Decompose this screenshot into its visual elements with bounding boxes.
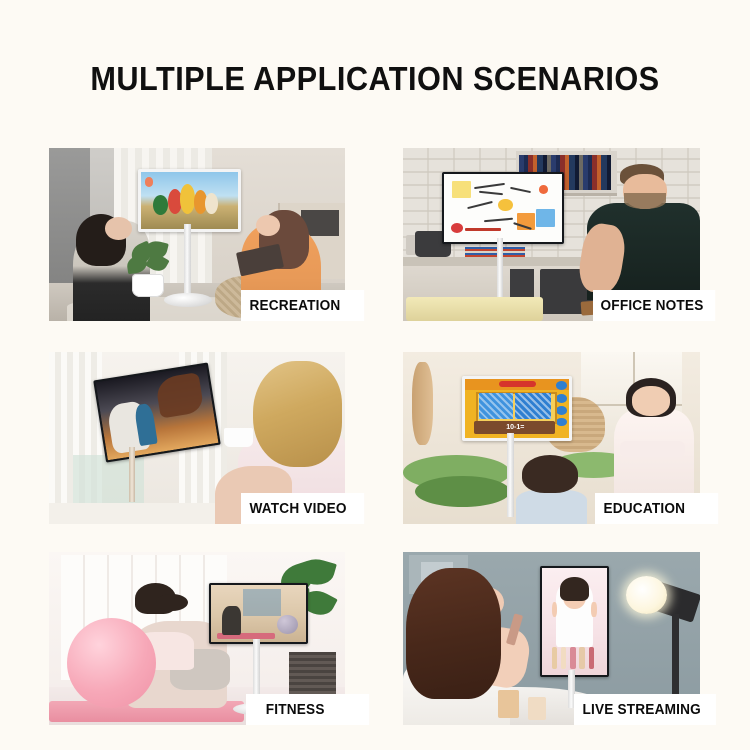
cosmetic-bottle-1 <box>498 690 519 718</box>
screen-host-hair <box>560 577 589 601</box>
screen-product-1 <box>552 647 557 668</box>
game-answer-button-9[interactable] <box>556 394 567 403</box>
scenario-label-text: OFFICE NOTES <box>601 298 704 314</box>
stand-monitor-screen: 10-1= <box>462 376 572 440</box>
scenario-label-office-notes: OFFICE NOTES <box>593 290 715 321</box>
person-right-face <box>256 215 280 236</box>
screen-product-2 <box>561 647 566 668</box>
book-stack <box>465 247 524 257</box>
scenario-label-recreation: RECREATION <box>241 290 364 321</box>
scenario-label-watch-video: WATCH VIDEO <box>241 493 364 524</box>
coffee-cup <box>224 428 254 447</box>
scenario-card-watch-video[interactable]: WATCH VIDEO <box>49 352 345 524</box>
monitor-stand-pole <box>507 433 514 517</box>
teacher-face <box>632 386 671 415</box>
scenario-label-fitness: FITNESS <box>246 694 369 725</box>
scenario-card-office-notes[interactable]: OFFICE NOTES <box>403 148 700 321</box>
screen-window <box>243 589 281 616</box>
bed <box>49 503 233 524</box>
screen-product-3 <box>570 647 575 668</box>
game-title-banner <box>499 381 536 387</box>
scenario-card-fitness[interactable]: FITNESS <box>49 552 345 725</box>
game-answer-button-8[interactable] <box>556 406 567 415</box>
cosmetic-bottle-2 <box>528 697 546 719</box>
person-ponytail <box>156 594 189 611</box>
screen-product-5 <box>589 647 594 668</box>
monitor-stand-pole <box>184 224 192 298</box>
stand-monitor-screen <box>442 172 565 243</box>
scenario-label-text: RECREATION <box>249 298 340 314</box>
game-answer-button-6[interactable] <box>556 418 567 427</box>
scenario-grid: RECREATION <box>0 0 750 750</box>
stand-monitor-screen <box>138 169 242 232</box>
papers-foreground <box>406 297 543 321</box>
scenario-card-education[interactable]: 10-1= EDUCATION <box>403 352 700 524</box>
person-hair <box>406 568 501 699</box>
game-grid-right <box>515 393 550 419</box>
scenario-label-text: WATCH VIDEO <box>249 501 346 517</box>
monitor-stand-pole <box>129 447 135 502</box>
exercise-ball <box>67 618 156 708</box>
plant-pot <box>289 652 336 697</box>
wood-divider <box>412 362 433 445</box>
game-grid-left <box>479 393 513 419</box>
green-cushion-2 <box>415 476 510 507</box>
person-left-face <box>105 217 132 239</box>
child-body <box>516 490 587 524</box>
stand-monitor-screen <box>209 583 308 644</box>
scenario-label-education: EDUCATION <box>595 493 718 524</box>
plant-pot <box>132 274 165 296</box>
game-equation-text: 10-1= <box>497 424 534 432</box>
screen-content-math-game: 10-1= <box>465 379 569 437</box>
child-hair <box>522 455 578 493</box>
person-hair <box>253 361 342 468</box>
scenario-label-text: EDUCATION <box>603 501 685 517</box>
screen-product-4 <box>579 647 584 668</box>
scenario-label-text: FITNESS <box>266 702 325 718</box>
screen-host-hand-right <box>591 602 596 617</box>
scenario-label-text: LIVE STREAMING <box>582 702 700 718</box>
stand-monitor-screen-portrait <box>540 566 609 677</box>
teacher-arms <box>620 441 685 456</box>
screen-ball <box>277 615 298 634</box>
scenario-card-live-streaming[interactable]: LIVE STREAMING <box>403 552 700 725</box>
screen-instructor <box>222 606 241 636</box>
scenario-card-recreation[interactable]: RECREATION <box>49 148 345 321</box>
scenario-label-live-streaming: LIVE STREAMING <box>574 694 716 725</box>
person-beard <box>624 193 666 209</box>
screen-host-hand-left <box>552 602 557 617</box>
